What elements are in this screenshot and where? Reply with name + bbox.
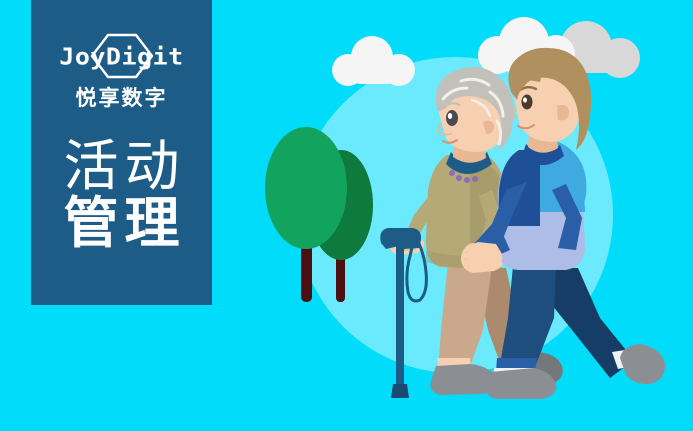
page-title-line-2: 管理 <box>57 195 185 252</box>
elder-eye <box>446 110 458 126</box>
logo-subtitle: 悦享数字 <box>76 88 168 109</box>
youth-front-shoe <box>486 368 557 399</box>
page-title: 活动 管理 <box>57 138 185 252</box>
youth-eye-highlight <box>523 97 527 102</box>
youth-ear <box>557 105 569 120</box>
poster-canvas: JoyDigit 悦享数字 活动 管理 <box>0 0 693 431</box>
cane-ferrule <box>391 384 409 398</box>
youth-forward-hand <box>466 242 502 270</box>
brand-logo: JoyDigit 悦享数字 <box>42 32 202 116</box>
page-title-line-1: 活动 <box>57 138 185 195</box>
logo-mark: JoyDigit <box>42 32 202 80</box>
title-panel: JoyDigit 悦享数字 活动 管理 <box>31 0 212 305</box>
logo-wordmark: JoyDigit <box>59 45 183 68</box>
cane-shaft <box>396 244 404 388</box>
youth-eye <box>522 95 533 110</box>
elder-eye-highlight <box>448 113 452 119</box>
